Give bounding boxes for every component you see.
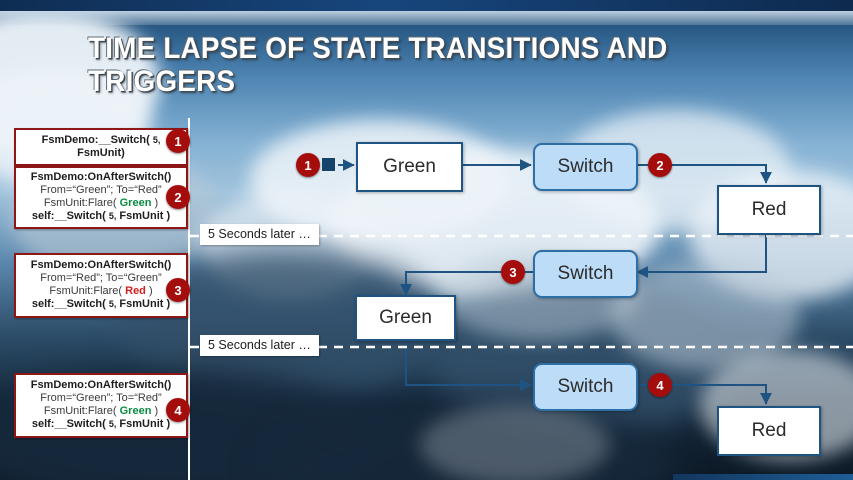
start-marker (322, 158, 335, 171)
code-box-3[interactable]: FsmDemo:OnAfterSwitch() From=“Red”; To=“… (14, 253, 188, 318)
code-line: FsmDemo:__Switch( 5, (18, 134, 184, 147)
time-separator-label-2: 5 Seconds later … (200, 335, 319, 356)
code-badge-4[interactable]: 4 (166, 398, 190, 422)
diagram-badge-2[interactable]: 2 (648, 153, 672, 177)
slide-canvas: TIME LAPSE OF STATE TRANSITIONS AND TRIG… (0, 0, 853, 480)
code-line: FsmUnit:Flare( Red ) (18, 285, 184, 298)
code-line: FsmUnit) (18, 147, 184, 160)
code-box-4[interactable]: FsmDemo:OnAfterSwitch() From=“Green”; To… (14, 373, 188, 438)
diagram-badge-3[interactable]: 3 (501, 260, 525, 284)
code-line: From=“Green”; To=“Red” (18, 184, 184, 197)
node-label: Green (383, 156, 436, 178)
node-label: Switch (558, 376, 614, 398)
code-line: FsmDemo:OnAfterSwitch() (18, 171, 184, 184)
code-line: From=“Red”; To=“Green” (18, 272, 184, 285)
code-box-2[interactable]: FsmDemo:OnAfterSwitch() From=“Green”; To… (14, 166, 188, 229)
code-box-1[interactable]: FsmDemo:__Switch( 5, FsmUnit) (14, 128, 188, 166)
code-badge-2[interactable]: 2 (166, 185, 190, 209)
node-switch-3[interactable]: Switch (533, 363, 638, 411)
code-line: self:__Switch( 5, FsmUnit ) (18, 418, 184, 431)
code-line: FsmDemo:OnAfterSwitch() (18, 259, 184, 272)
code-badge-3[interactable]: 3 (166, 278, 190, 302)
code-line: FsmUnit:Flare( Green ) (18, 197, 184, 210)
code-line: self:__Switch( 5, FsmUnit ) (18, 210, 184, 223)
diagram-badge-1[interactable]: 1 (296, 153, 320, 177)
node-label: Switch (558, 263, 614, 285)
node-label: Switch (558, 156, 614, 178)
diagram-badge-4[interactable]: 4 (648, 373, 672, 397)
code-line: FsmDemo:OnAfterSwitch() (18, 379, 184, 392)
node-switch-2[interactable]: Switch (533, 250, 638, 298)
node-label: Red (752, 420, 787, 442)
node-label: Green (379, 307, 432, 329)
node-label: Red (752, 199, 787, 221)
node-red-2[interactable]: Red (717, 406, 821, 456)
node-red-1[interactable]: Red (717, 185, 821, 235)
node-green-1[interactable]: Green (356, 142, 463, 192)
code-line: self:__Switch( 5, FsmUnit ) (18, 298, 184, 311)
node-switch-1[interactable]: Switch (533, 143, 638, 191)
code-line: FsmUnit:Flare( Green ) (18, 405, 184, 418)
node-green-2[interactable]: Green (355, 295, 456, 341)
code-badge-1[interactable]: 1 (166, 129, 190, 153)
code-line: From=“Green”; To=“Red” (18, 392, 184, 405)
time-separator-label-1: 5 Seconds later … (200, 224, 319, 245)
